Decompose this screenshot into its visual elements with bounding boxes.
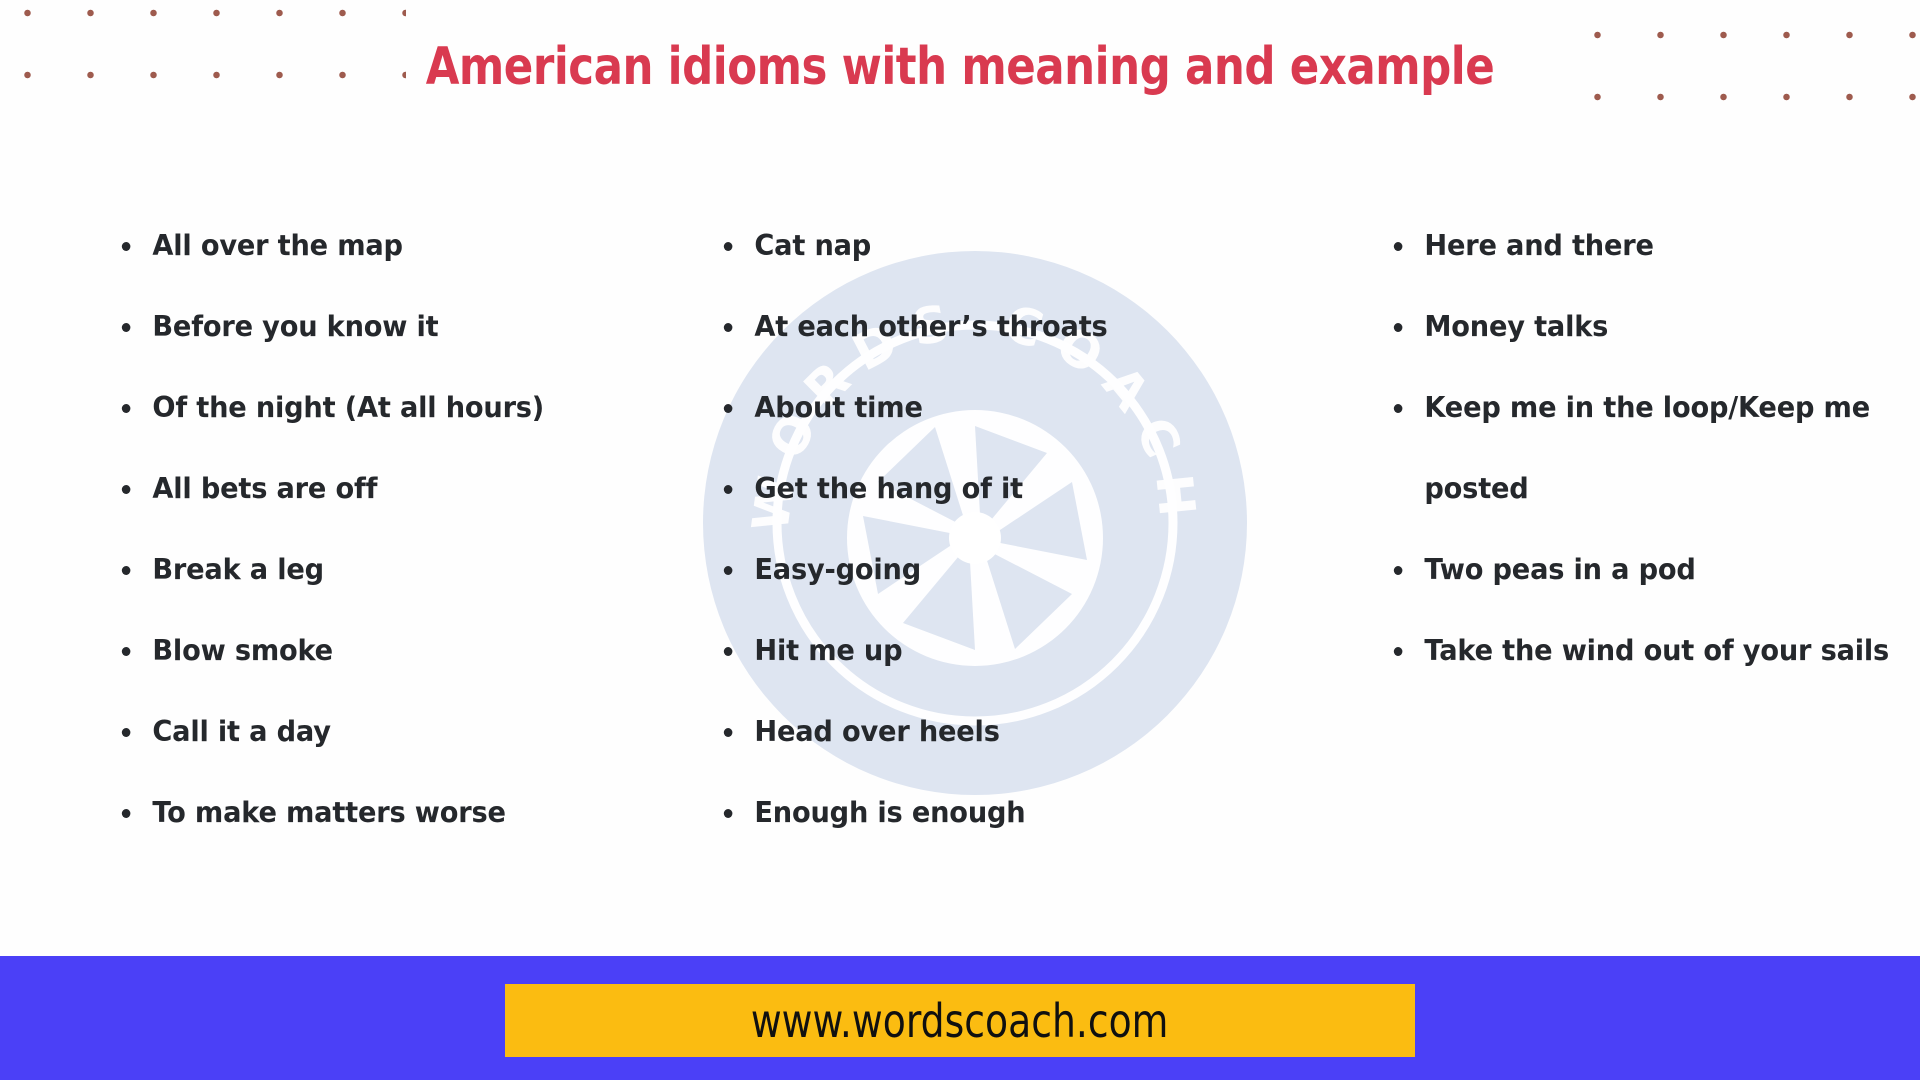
list-item: Get the hang of it <box>720 448 1188 529</box>
list-item: All over the map <box>118 205 588 286</box>
list-item: Money talks <box>1390 286 1896 367</box>
list-item: Keep me in the loop/Keep me posted <box>1390 367 1896 529</box>
idiom-list-3: Here and there Money talks Keep me in th… <box>1390 205 1920 691</box>
page-title: American idioms with meaning and example <box>402 38 1518 96</box>
list-item: Head over heels <box>720 691 1188 772</box>
list-item: Before you know it <box>118 286 588 367</box>
list-item: Of the night (At all hours) <box>118 367 588 448</box>
poster-canvas: WORDS COACH D American idioms with meani… <box>0 0 1920 1080</box>
list-item: To make matters worse <box>118 772 588 853</box>
dot-pattern-right <box>1566 0 1920 132</box>
list-item: Here and there <box>1390 205 1896 286</box>
idiom-list-1: All over the map Before you know it Of t… <box>118 205 610 853</box>
list-item: Break a leg <box>118 529 588 610</box>
list-item: All bets are off <box>118 448 588 529</box>
list-item: Hit me up <box>720 610 1188 691</box>
list-item: About time <box>720 367 1188 448</box>
website-url-text: www.wordscoach.com <box>751 994 1169 1048</box>
website-url-box[interactable]: www.wordscoach.com <box>505 984 1415 1057</box>
list-item: At each other’s throats <box>720 286 1188 367</box>
idiom-column-3: Here and there Money talks Keep me in th… <box>1210 205 1920 691</box>
list-item: Take the wind out of your sails <box>1390 610 1896 691</box>
list-item: Easy-going <box>720 529 1188 610</box>
idiom-columns: All over the map Before you know it Of t… <box>0 205 1920 885</box>
idiom-column-1: All over the map Before you know it Of t… <box>0 205 610 853</box>
list-item: Enough is enough <box>720 772 1188 853</box>
idiom-list-2: Cat nap At each other’s throats About ti… <box>720 205 1210 853</box>
list-item: Call it a day <box>118 691 588 772</box>
idiom-column-2: Cat nap At each other’s throats About ti… <box>610 205 1210 853</box>
list-item: Cat nap <box>720 205 1188 286</box>
list-item: Two peas in a pod <box>1390 529 1896 610</box>
dot-pattern-left <box>0 0 406 132</box>
list-item: Blow smoke <box>118 610 588 691</box>
